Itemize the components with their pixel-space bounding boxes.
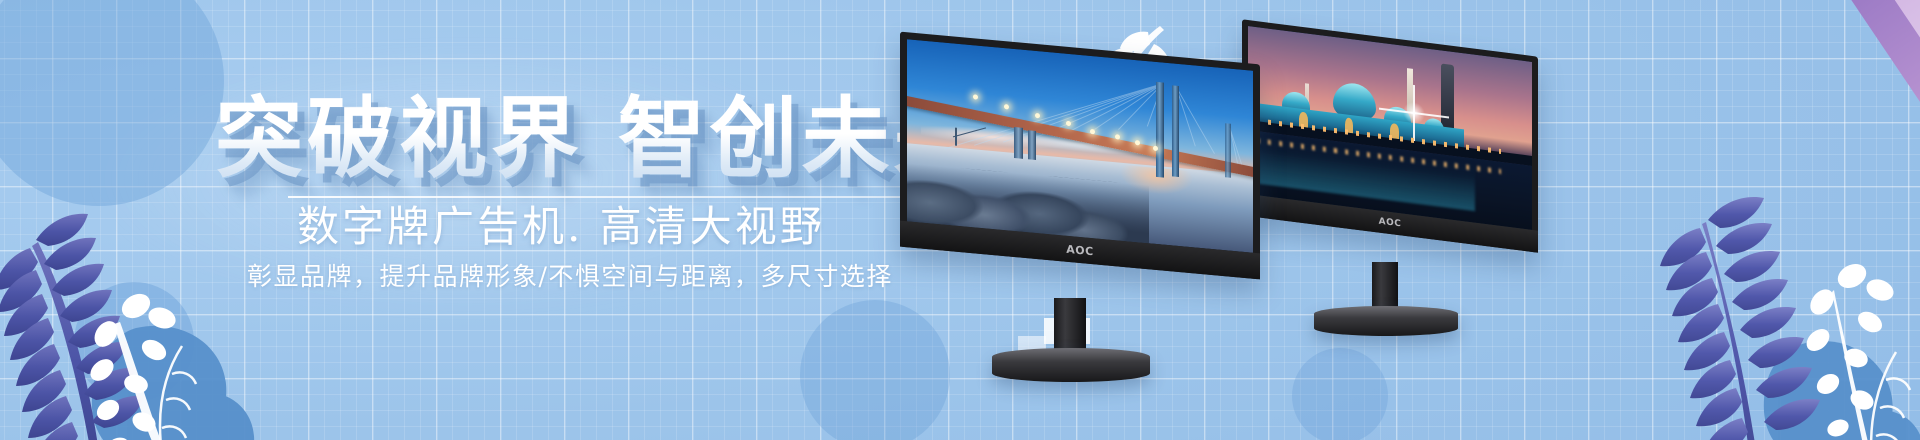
monitor-base [992,348,1150,382]
crane-silhouette [952,127,987,148]
screen-image-bridge [907,39,1253,252]
product-group: AOC [880,0,1920,440]
rear-monitor: AOC [1242,38,1538,234]
front-monitor: AOC [900,48,1260,263]
monitor-frame: AOC [1242,19,1538,252]
page-title: 突破视界 智创未来 [215,68,986,195]
tagline: 彰显品牌，提升品牌形象/不惧空间与距离，多尺寸选择 [247,257,893,293]
product-banner: 突破视界 智创未来 数字牌广告机. 高清大视野 彰显品牌，提升品牌形象/不惧空间… [0,0,1920,440]
copy-block: 突破视界 智创未来 数字牌广告机. 高清大视野 彰显品牌，提升品牌形象/不惧空间… [0,0,1000,440]
monitor-frame: AOC [900,32,1260,280]
brand-logo: AOC [1066,242,1093,257]
subtitle: 数字牌广告机. 高清大视野 [297,193,825,254]
brand-logo: AOC [1379,217,1402,230]
monitor-base [1314,306,1458,336]
monitor-screen [907,39,1253,252]
